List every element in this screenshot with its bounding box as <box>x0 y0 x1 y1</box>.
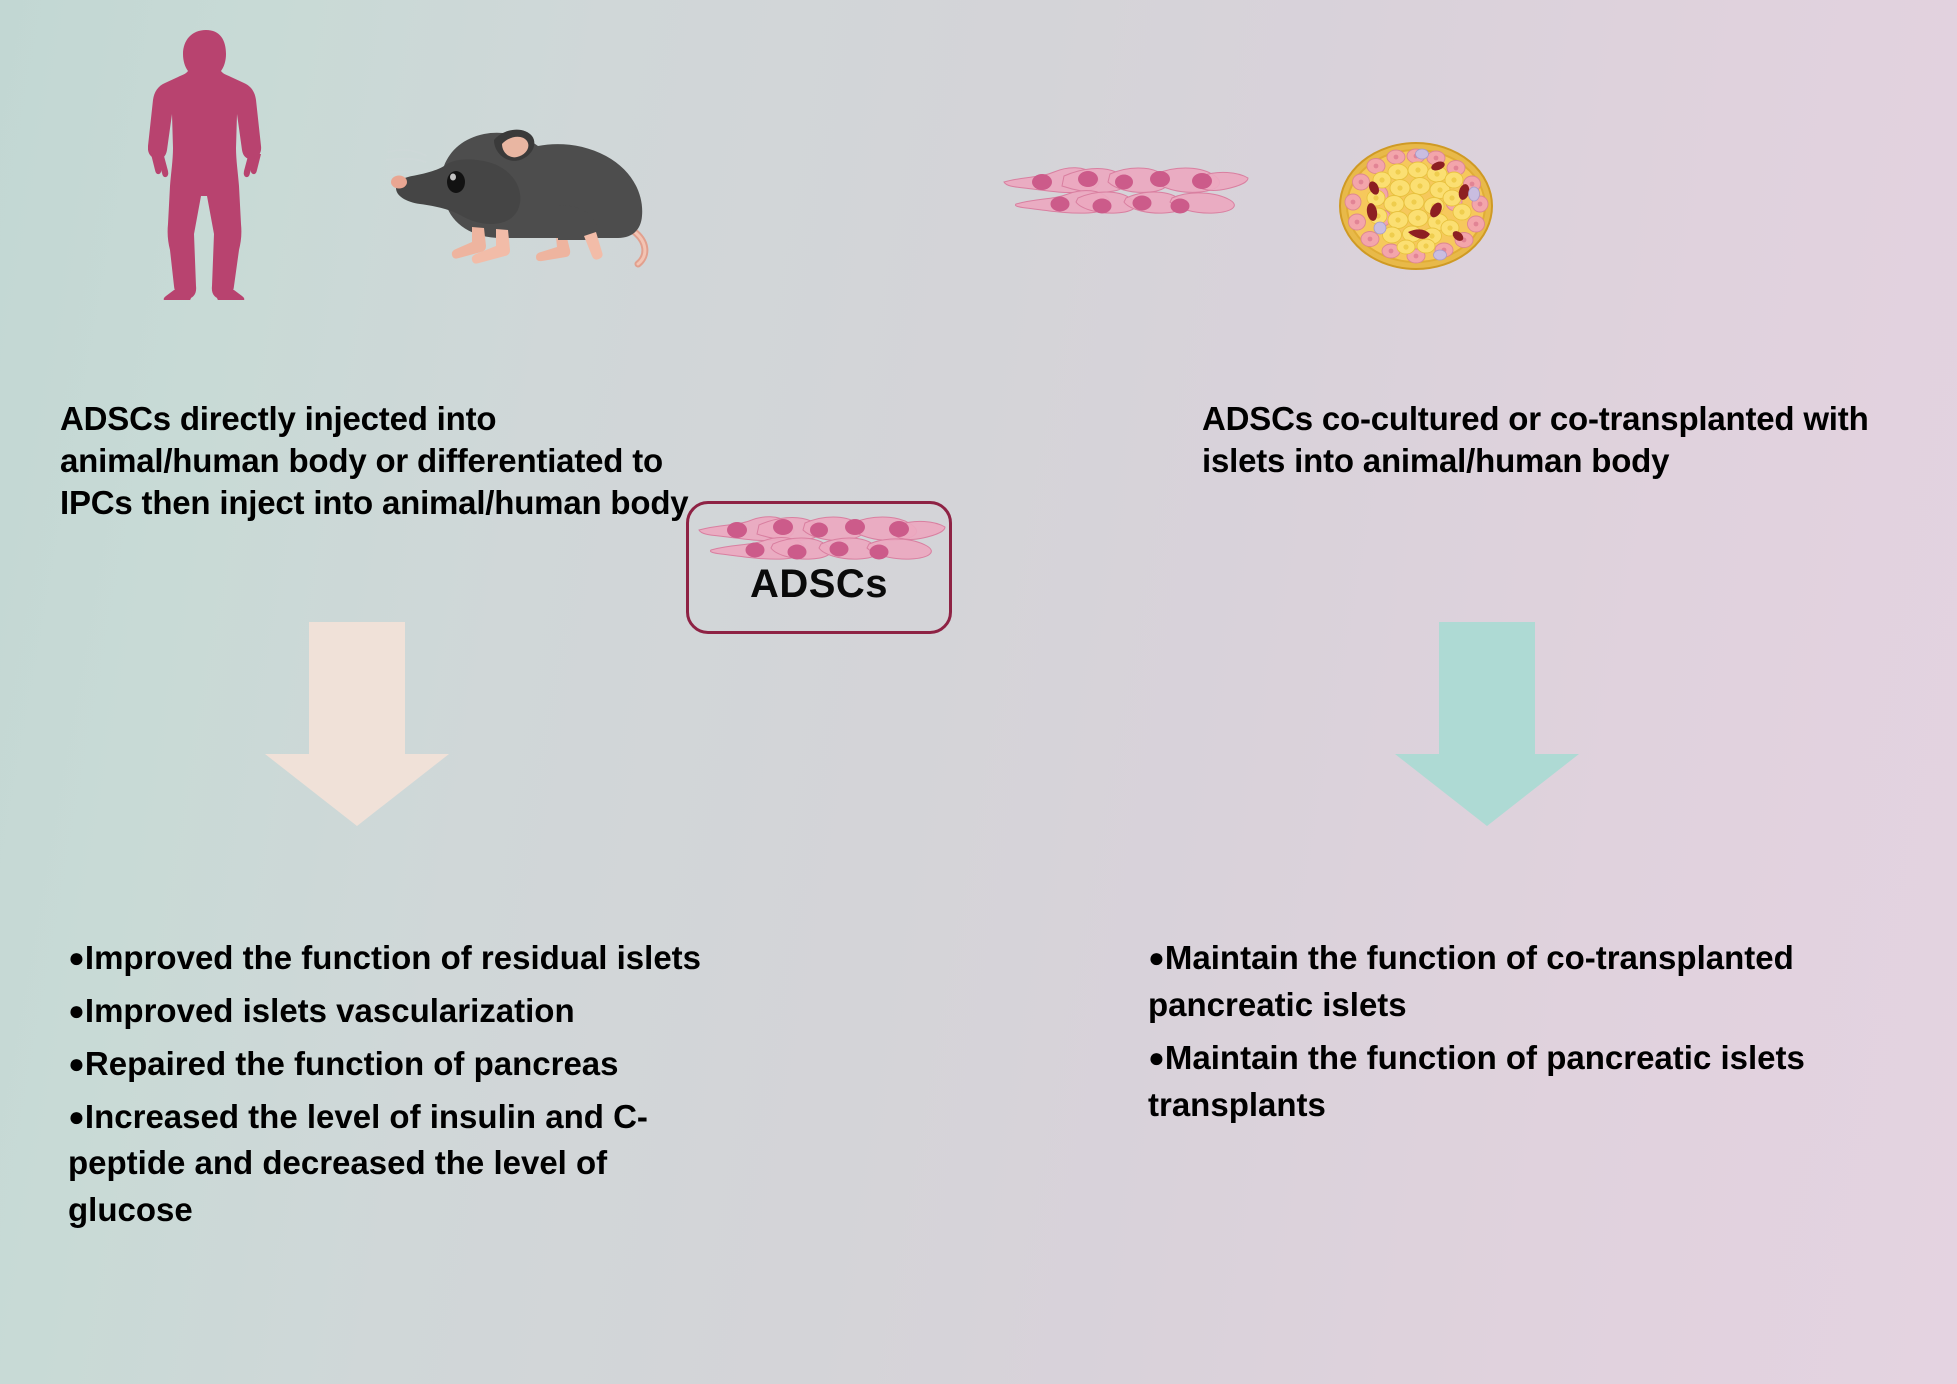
left-branch-caption: ADSCs directly injected into animal/huma… <box>60 398 700 525</box>
bullet-glyph: ● <box>1148 1042 1165 1073</box>
left-outcomes-list: ●Improved the function of residual islet… <box>68 935 728 1240</box>
list-item-label: Increased the level of insulin and C-pep… <box>68 1098 648 1229</box>
mouse-icon <box>352 100 664 268</box>
right-branch-caption: ADSCs co-cultured or co-transplanted wit… <box>1202 398 1922 482</box>
list-item-label: Maintain the function of pancreatic isle… <box>1148 1039 1805 1123</box>
list-item: ●Maintain the function of pancreatic isl… <box>1148 1035 1948 1129</box>
pancreatic-islet-icon <box>1336 140 1496 272</box>
adscs-label: ADSCs <box>689 562 949 607</box>
bullet-glyph: ● <box>68 1101 85 1132</box>
list-item: ●Improved islets vascularization <box>68 988 728 1035</box>
list-item: ●Maintain the function of co-transplante… <box>1148 935 1948 1029</box>
adscs-center-box[interactable]: ADSCs <box>686 501 952 634</box>
list-item-label: Improved islets vascularization <box>85 992 575 1029</box>
down-arrow-left-icon <box>262 618 452 830</box>
list-item: ●Increased the level of insulin and C-pe… <box>68 1094 728 1235</box>
human-silhouette-icon <box>148 28 264 300</box>
adsc-spindle-cells-icon <box>1002 160 1250 218</box>
bullet-glyph: ● <box>68 1048 85 1079</box>
bullet-glyph: ● <box>68 995 85 1026</box>
bullet-glyph: ● <box>1148 942 1165 973</box>
list-item-label: Improved the function of residual islets <box>85 939 701 976</box>
list-item: ●Repaired the function of pancreas <box>68 1041 728 1088</box>
adsc-spindle-cells-icon <box>697 510 947 562</box>
list-item-label: Maintain the function of co-transplanted… <box>1148 939 1794 1023</box>
down-arrow-right-icon <box>1392 618 1582 830</box>
diagram-canvas: ADSCs directly injected into animal/huma… <box>0 0 1957 1384</box>
list-item-label: Repaired the function of pancreas <box>85 1045 619 1082</box>
right-outcomes-list: ●Maintain the function of co-transplante… <box>1148 935 1948 1134</box>
bullet-glyph: ● <box>68 942 85 973</box>
list-item: ●Improved the function of residual islet… <box>68 935 728 982</box>
